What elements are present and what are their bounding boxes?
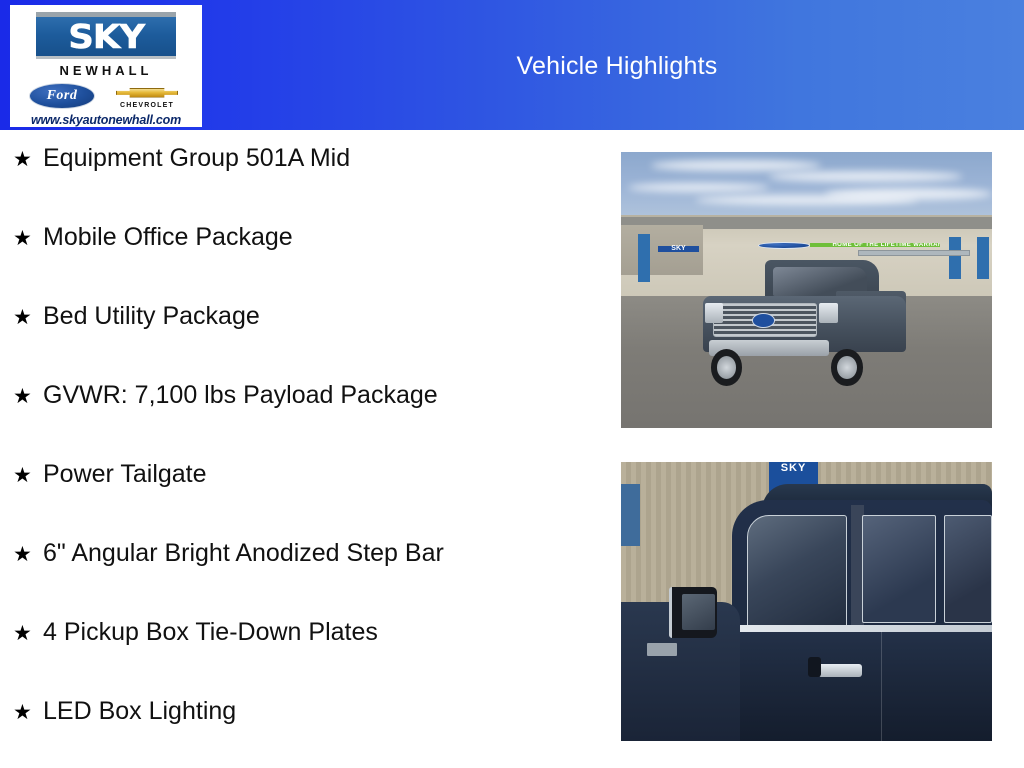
list-item: ★ 4 Pickup Box Tie-Down Plates [0,620,600,699]
highlight-label: Equipment Group 501A Mid [43,146,350,171]
cloud-shape [695,195,918,205]
cloud-shape [651,160,822,172]
chevrolet-logo: CHEVROLET [111,84,183,109]
list-item: ★ Mobile Office Package [0,225,600,304]
rear-door-window [862,515,936,623]
bowtie-shape [116,88,178,98]
front-door-window [747,515,847,628]
door-handle [818,664,863,677]
list-item: ★ GVWR: 7,100 lbs Payload Package [0,383,600,462]
highlight-label: GVWR: 7,100 lbs Payload Package [43,383,438,408]
star-icon: ★ [13,465,43,486]
dealer-logo[interactable]: SKY NEWHALL Ford CHEVROLET www.skyautone… [10,5,202,127]
cloud-shape [628,183,769,192]
highlight-label: 4 Pickup Box Tie-Down Plates [43,620,378,645]
vehicle-photo-side-detail[interactable]: SKY AUTOMALL [621,462,992,741]
sky-brand-text: SKY [68,20,144,53]
ford-oval-icon: Ford [29,83,95,109]
vehicle-highlights-slide: SKY NEWHALL Ford CHEVROLET www.skyautone… [0,0,1024,768]
star-icon: ★ [13,307,43,328]
page-title: Vehicle Highlights [210,52,1024,81]
ford-oval-sign-icon [758,242,810,249]
building-windows [858,250,969,256]
truck-wheel [711,349,742,385]
truck-front-view [703,260,911,381]
warranty-banner-text: HOME OF THE LIFETIME WARRANTY [810,243,940,247]
building-pillar [949,237,961,279]
list-item: ★ Bed Utility Package [0,304,600,383]
truck-wheel [831,349,862,385]
chevrolet-bowtie-icon [116,84,178,101]
highlight-label: Power Tailgate [43,462,207,487]
star-icon: ★ [13,544,43,565]
star-icon: ★ [13,228,43,249]
headlight-right [819,303,838,322]
side-mirror [669,587,717,638]
highlight-label: LED Box Lighting [43,699,236,724]
highlight-label: Mobile Office Package [43,225,293,250]
list-item: ★ Equipment Group 501A Mid [0,146,600,225]
franchise-logo-row: Ford CHEVROLET [21,83,191,109]
list-item: ★ LED Box Lighting [0,699,600,768]
star-icon: ★ [13,386,43,407]
ford-emblem-icon [752,313,775,328]
star-icon: ★ [13,702,43,723]
chrome-beltline-trim [732,625,992,631]
cloud-shape [769,171,962,181]
f150-badge-icon [647,643,677,656]
vehicle-highlights-list: ★ Equipment Group 501A Mid ★ Mobile Offi… [0,146,600,768]
sky-sign-text: SKY [658,246,699,252]
headlight-left [705,303,724,322]
highlight-label: Bed Utility Package [43,304,260,329]
vehicle-photo-exterior-front[interactable]: SKY HOME OF THE LIFETIME WARRANTY [621,152,992,428]
ford-wordmark: Ford [47,88,78,104]
chevrolet-wordmark: CHEVROLET [120,102,174,109]
dealer-location-text: NEWHALL [60,63,153,78]
rear-quarter-window [944,515,992,623]
star-icon: ★ [13,149,43,170]
building-pillar [638,234,650,282]
list-item: ★ 6" Angular Bright Anodized Step Bar [0,541,600,620]
list-item: ★ Power Tailgate [0,462,600,541]
star-icon: ★ [13,623,43,644]
sky-brand-badge: SKY [36,12,176,59]
building-pillar [977,237,989,279]
dealer-website-url[interactable]: www.skyautonewhall.com [31,113,181,127]
door-seam [881,631,882,741]
highlight-label: 6" Angular Bright Anodized Step Bar [43,541,444,566]
truck-side-view [621,484,992,741]
